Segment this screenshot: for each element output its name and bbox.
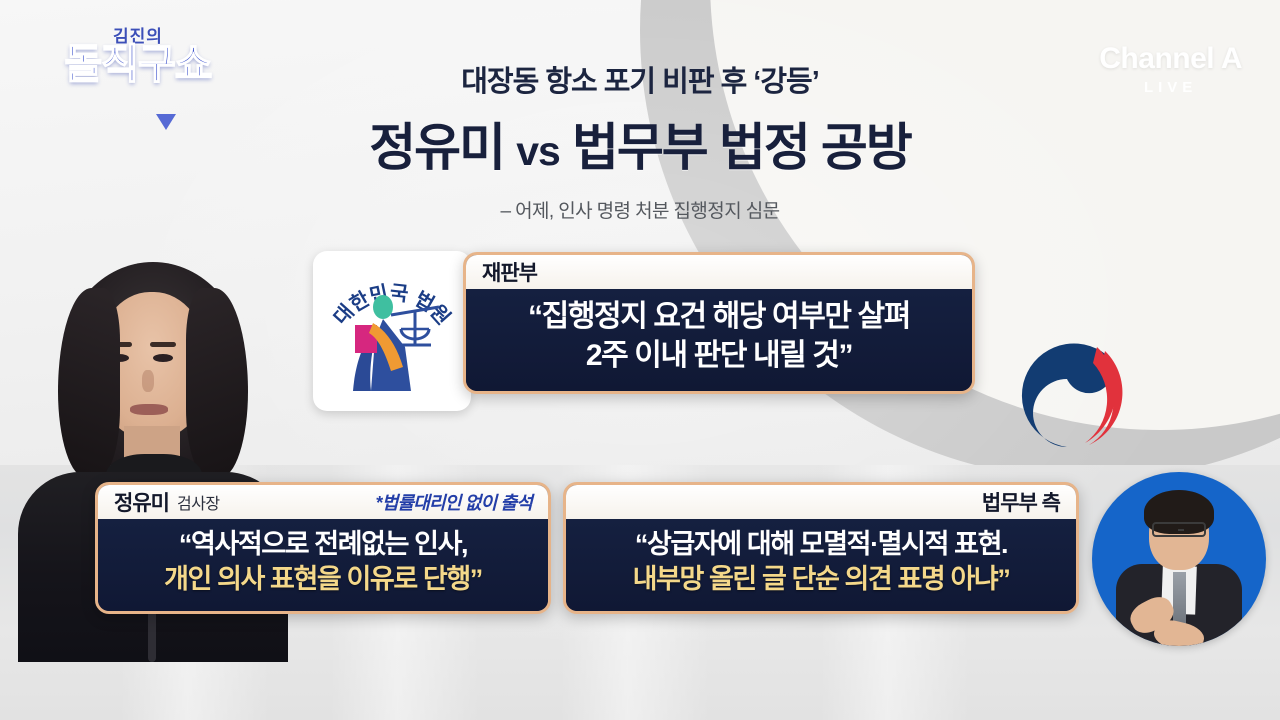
quote-card-court-body: “집행정지 요건 해당 여부만 살펴 2주 이내 판단 내릴 것” [466,289,972,391]
quote-card-ministry: 법무부 측 “상급자에 대해 모멸적·멸시적 표현. 내부망 올린 글 단순 의… [563,482,1079,614]
quote-card-ministry-body: “상급자에 대해 모멸적·멸시적 표현. 내부망 올린 글 단순 의견 표명 아… [566,519,1076,611]
quote-line-highlight: 내부망 올린 글 단순 의견 표명 아냐” [580,562,1062,597]
quote-card-prosecutor-header: 정유미 검사장 *법률대리인 없이 출석 [98,485,548,519]
headline-subline: – 어제, 인사 명령 처분 집행정지 심문 [0,196,1280,223]
prosecutor-note: *법률대리인 없이 출석 [376,489,532,515]
headline-kicker: 대장동 항소 포기 비판 후 ‘강등’ [0,58,1280,100]
quote-card-court-label: 재판부 [482,257,537,287]
broadcast-screen: 김진의 돌직구쇼 Channel A LIVE 대장동 항소 포기 비판 후 ‘… [0,0,1280,720]
quote-line: 2주 이내 판단 내릴 것” [488,336,950,375]
headline-title-vs: vs [516,128,560,174]
korean-government-emblem [993,333,1141,473]
quote-line: “역사적으로 전례없는 인사, [112,527,534,562]
quote-line: “상급자에 대해 모멸적·멸시적 표현. [580,527,1062,562]
quote-line-highlight: 개인 의사 표현을 이유로 단행” [112,562,534,597]
sign-language-interpreter-inset [1092,472,1266,646]
quote-card-ministry-header: 법무부 측 [566,485,1076,519]
quote-card-ministry-label: 법무부 측 [982,487,1060,517]
prosecutor-name: 정유미 [114,487,169,517]
court-of-korea-emblem: 대한민국 법원 [313,251,471,411]
headline-title-right: 법무부 법정 공방 [572,119,911,176]
headline-title-left: 정유미 [369,119,504,176]
headline-title: 정유미 vs 법무부 법정 공방 [0,106,1280,180]
quote-card-court-header: 재판부 [466,255,972,289]
quote-card-prosecutor-body: “역사적으로 전례없는 인사, 개인 의사 표현을 이유로 단행” [98,519,548,611]
quote-card-court: 재판부 “집행정지 요건 해당 여부만 살펴 2주 이내 판단 내릴 것” [463,252,975,394]
headline-block: 대장동 항소 포기 비판 후 ‘강등’ 정유미 vs 법무부 법정 공방 – 어… [0,58,1280,223]
quote-card-prosecutor: 정유미 검사장 *법률대리인 없이 출석 “역사적으로 전례없는 인사, 개인 … [95,482,551,614]
prosecutor-role: 검사장 [177,490,220,514]
quote-line: “집행정지 요건 해당 여부만 살펴 [488,297,950,336]
